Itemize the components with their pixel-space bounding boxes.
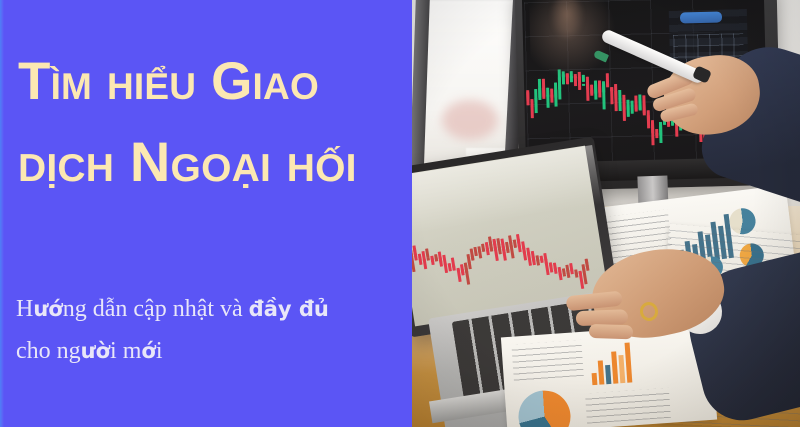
page-title-line-2: dịch Ngoại hối	[18, 122, 412, 202]
page-subtitle: Hướng dẫn cập nhật và đầy đủ cho người m…	[16, 288, 396, 372]
candlestick	[534, 89, 538, 112]
front-report-pie-chart	[517, 389, 573, 427]
candlestick	[655, 129, 658, 137]
candlestick	[651, 120, 655, 145]
candlestick	[594, 81, 597, 100]
candlestick	[614, 84, 618, 111]
candlestick	[622, 95, 626, 121]
candlestick	[659, 122, 663, 143]
forex-article-banner: Tìm hiểu Giao dịch Ngoại hối Hướng dẫn c…	[0, 0, 800, 427]
front-report-legend	[585, 388, 671, 424]
candlestick	[586, 77, 590, 101]
page-subtitle-line-2: cho người mới	[16, 330, 396, 372]
subtitle-seg-2: ướ	[33, 297, 62, 321]
candlestick	[526, 90, 529, 105]
page-title: Tìm hiểu Giao dịch Ngoại hối	[18, 42, 412, 202]
subtitle-seg-7: i m	[110, 338, 141, 364]
candlestick	[425, 249, 429, 258]
candlestick	[590, 85, 593, 96]
monitor-status-badge	[680, 11, 722, 23]
window-blur-blob	[442, 100, 498, 140]
candlestick	[554, 82, 558, 106]
candlestick	[585, 258, 590, 270]
candlestick	[550, 89, 553, 103]
trading-desk-photo	[412, 0, 800, 427]
candlestick	[569, 263, 573, 273]
page-title-line-1: Tìm hiểu Giao	[18, 42, 412, 122]
candlestick	[538, 79, 542, 100]
front-report-bar-chart	[590, 342, 633, 385]
candlestick	[546, 87, 550, 108]
text-panel: Tìm hiểu Giao dịch Ngoại hối Hướng dẫn c…	[0, 0, 412, 427]
candlestick	[647, 110, 650, 129]
candlestick	[630, 100, 633, 113]
subtitle-seg-6: ườ	[81, 339, 110, 363]
candlestick	[451, 258, 456, 271]
subtitle-seg-3: ng dẫn cập nhật và	[63, 296, 249, 322]
candlestick	[530, 100, 533, 119]
left-edge-strip	[0, 0, 4, 427]
monitor-face-reflection	[550, 0, 584, 40]
subtitle-seg-8: ớ	[141, 339, 155, 363]
candlestick	[642, 95, 645, 113]
subtitle-seg-1: H	[16, 296, 33, 322]
page-subtitle-line-1: Hướng dẫn cập nhật và đầy đủ	[16, 288, 396, 330]
candlestick	[542, 79, 545, 98]
candlestick	[626, 100, 629, 117]
subtitle-seg-5: cho ng	[16, 338, 81, 364]
candlestick	[598, 80, 601, 97]
front-report-text	[511, 340, 584, 385]
candlestick	[618, 90, 621, 110]
candlestick	[634, 95, 637, 111]
subtitle-seg-4: đầy đủ	[249, 297, 329, 321]
candlestick	[638, 94, 641, 111]
candlestick	[610, 87, 613, 105]
subtitle-seg-9: i	[156, 338, 163, 364]
